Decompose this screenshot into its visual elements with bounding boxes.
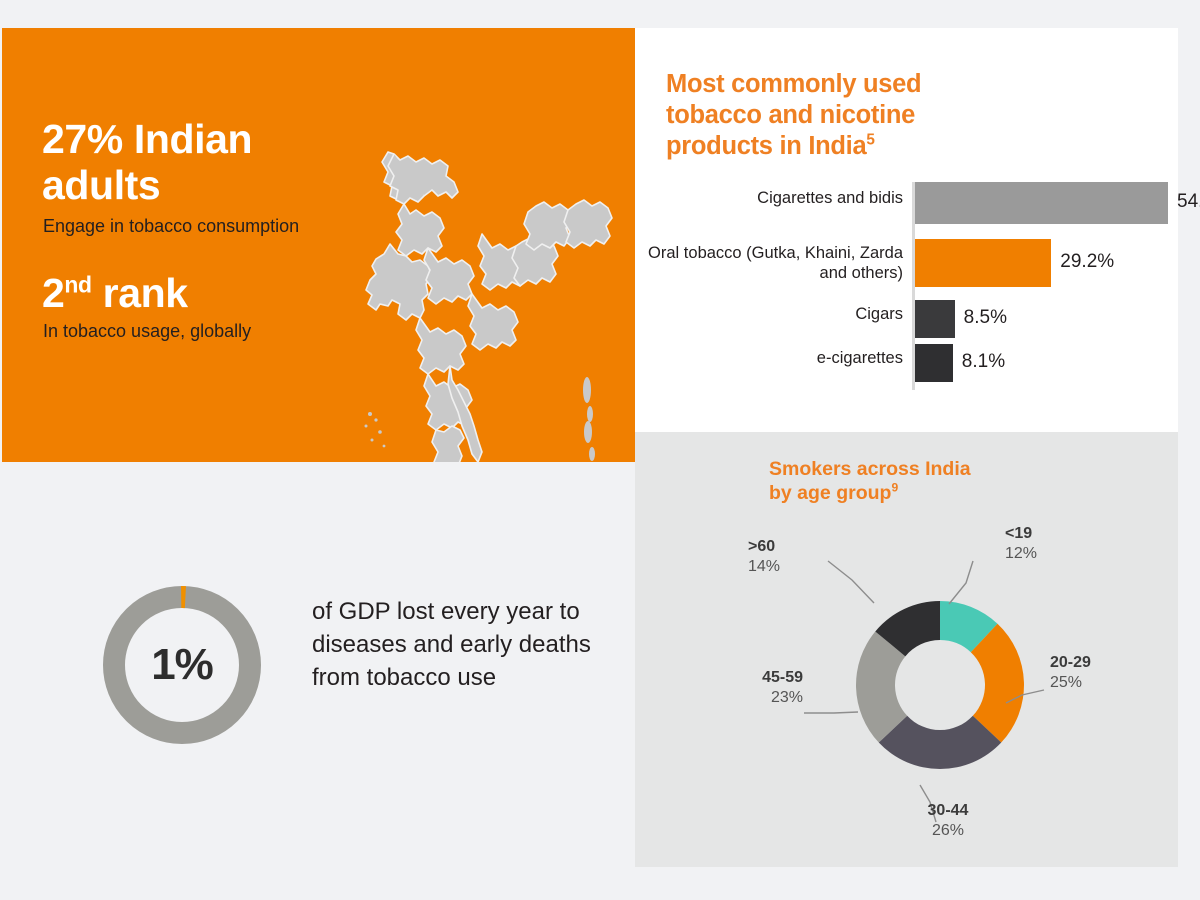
leader-line-lt19	[949, 561, 973, 604]
donut-label-gt60: >60 14%	[748, 537, 838, 576]
bar-value-label: 54.2%	[1177, 191, 1200, 213]
donut-label-45-59-name: 45-59	[718, 668, 803, 688]
age-chart-title: Smokers across India by age group9	[769, 457, 1049, 506]
donut-label-lt19-pct: 12%	[1005, 544, 1037, 564]
gdp-center-value: 1%	[100, 583, 264, 747]
bar-category-label: Oral tobacco (Gutka, Khaini, Zarda and o…	[645, 243, 903, 284]
hero-stat-secondary-caption: In tobacco usage, globally	[43, 321, 443, 343]
donut-label-30-44-pct: 26%	[893, 821, 1003, 841]
bar-rect	[915, 182, 1168, 224]
donut-label-30-44-name: 30-44	[893, 801, 1003, 821]
hero-panel: 27% Indian adults Engage in tobacco cons…	[2, 28, 635, 462]
donut-label-45-59: 45-59 23%	[718, 668, 803, 707]
hero-rank-word: rank	[103, 270, 188, 316]
donut-label-lt19: <19 12%	[1005, 524, 1037, 563]
donut-label-20-29-name: 20-29	[1050, 653, 1091, 673]
bar-title-line1: Most commonly used	[666, 70, 921, 98]
hero-stat-secondary: 2nd rank	[42, 272, 188, 315]
age-title-footnote: 9	[891, 481, 898, 495]
hero-stat-primary-caption: Engage in tobacco consumption	[43, 216, 443, 238]
india-map-icon	[332, 114, 632, 462]
bar-rect	[915, 300, 955, 338]
donut-label-20-29-pct: 25%	[1050, 673, 1091, 693]
infographic-canvas: 27% Indian adults Engage in tobacco cons…	[0, 0, 1200, 900]
hero-stat-primary: 27% Indian adults	[42, 116, 372, 209]
hero-rank-ordinal: nd	[64, 271, 91, 297]
bar-category-label: Cigarettes and bidis	[645, 188, 903, 208]
age-donut-slices	[856, 601, 1024, 769]
leader-line-45-59	[804, 712, 858, 713]
bar-rect	[915, 239, 1051, 287]
bar-category-label: Cigars	[645, 304, 903, 324]
donut-label-45-59-pct: 23%	[718, 688, 803, 708]
age-title-line1: Smokers across India	[769, 458, 971, 480]
bar-title-line2: tobacco and nicotine	[666, 101, 915, 129]
donut-label-20-29: 20-29 25%	[1050, 653, 1091, 692]
bar-chart-title: Most commonly used tobacco and nicotine …	[666, 69, 1026, 162]
donut-label-gt60-name: >60	[748, 537, 838, 557]
bar-rect	[915, 344, 953, 382]
bar-row: Cigars8.5%	[645, 300, 1185, 338]
hero-rank-number: 2	[42, 270, 64, 316]
gdp-description: of GDP lost every year to diseases and e…	[312, 595, 602, 694]
donut-label-gt60-pct: 14%	[748, 557, 838, 577]
bar-title-line3: products in India	[666, 132, 866, 160]
age-title-line2: by age group	[769, 482, 891, 504]
bar-title-footnote: 5	[866, 132, 874, 149]
bar-row: Oral tobacco (Gutka, Khaini, Zarda and o…	[645, 239, 1185, 287]
bar-row: e-cigarettes8.1%	[645, 344, 1185, 382]
bar-value-label: 8.1%	[962, 351, 1005, 373]
donut-label-30-44: 30-44 26%	[893, 801, 1003, 840]
bar-row: Cigarettes and bidis54.2%	[645, 182, 1185, 224]
bar-chart: Cigarettes and bidis54.2%Oral tobacco (G…	[645, 182, 1185, 390]
bar-value-label: 29.2%	[1060, 251, 1114, 273]
bar-value-label: 8.5%	[964, 307, 1007, 329]
bar-category-label: e-cigarettes	[645, 348, 903, 368]
donut-label-lt19-name: <19	[1005, 524, 1037, 544]
